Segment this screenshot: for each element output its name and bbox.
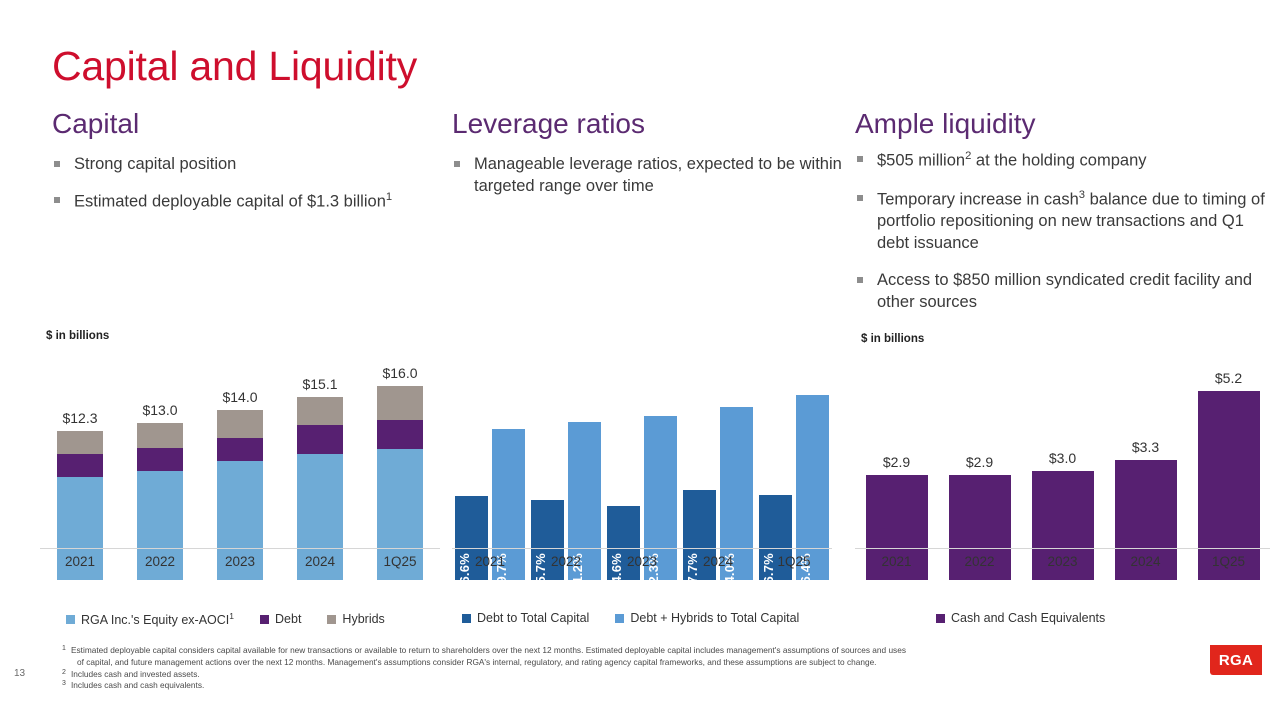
legend-swatch-icon — [260, 615, 269, 624]
bar-segment-hybrid — [377, 386, 423, 420]
x-axis-tick-label: 2023 — [1021, 554, 1104, 569]
legend-swatch-icon — [615, 614, 624, 623]
bullet-square-icon — [857, 277, 863, 283]
x-axis-tick-label: 2024 — [280, 554, 360, 569]
column-heading-liquidity: Ample liquidity — [855, 108, 1275, 140]
column-liquidity: Ample liquidity $505 million2 at the hol… — [855, 108, 1275, 329]
legend-swatch-icon — [462, 614, 471, 623]
x-axis-line — [855, 548, 1270, 549]
legend-swatch-icon — [936, 614, 945, 623]
bullet-text-cont: at the holding company — [971, 152, 1146, 170]
footnote-ref: 1 — [386, 191, 392, 203]
x-axis-tick-label: 1Q25 — [360, 554, 440, 569]
list-item: Manageable leverage ratios, expected to … — [452, 154, 847, 198]
legend-item: Debt + Hybrids to Total Capital — [615, 611, 799, 625]
legend-liquidity: Cash and Cash Equivalents — [936, 611, 1131, 625]
footnote-2: 2 Includes cash and invested assets. — [62, 669, 1162, 681]
chart-units-label: $ in billions — [861, 333, 924, 345]
x-axis-tick-label: 2024 — [1104, 554, 1187, 569]
rga-logo: RGA — [1210, 645, 1262, 675]
bar-segment-debt — [297, 425, 343, 454]
bullet-square-icon — [857, 156, 863, 162]
bullet-text: Access to $850 million syndicated credit… — [877, 271, 1252, 311]
footnote-ref: 1 — [229, 611, 234, 621]
bar-segment-hybrid — [297, 397, 343, 425]
chart-units-label: $ in billions — [46, 330, 109, 342]
bar-segment-hybrid — [217, 410, 263, 438]
bar-value-label: $15.1 — [302, 376, 337, 392]
x-axis-tick-label: 2021 — [855, 554, 938, 569]
x-axis-labels: 20212022202320241Q25 — [40, 554, 440, 569]
bar-segment-debt — [57, 454, 103, 477]
footnote-1: 1 Estimated deployable capital considers… — [62, 645, 1162, 669]
x-axis-tick-label: 1Q25 — [1187, 554, 1270, 569]
footnote-3: 3 Includes cash and cash equivalents. — [62, 680, 1162, 692]
x-axis-labels: 20212022202320241Q25 — [855, 554, 1270, 569]
list-item: $505 million2 at the holding company — [855, 149, 1275, 172]
column-capital: Capital Strong capital position Estimate… — [52, 108, 442, 228]
legend-label: RGA Inc.'s Equity ex-AOCI1 — [81, 611, 234, 627]
x-axis-line — [452, 548, 832, 549]
bullet-square-icon — [54, 197, 60, 203]
bar-segment-debt — [377, 420, 423, 449]
x-axis-tick-label: 2023 — [604, 554, 680, 569]
bar-value-label: $2.9 — [966, 454, 993, 470]
bullet-list-liquidity: $505 million2 at the holding company Tem… — [855, 149, 1275, 314]
bar-slot: 15.7%31.2% — [528, 377, 604, 580]
legend-item: RGA Inc.'s Equity ex-AOCI1 — [66, 611, 234, 627]
legend-swatch-icon — [66, 615, 75, 624]
list-item: Temporary increase in cash3 balance due … — [855, 188, 1275, 255]
bar-value-label: $3.3 — [1132, 439, 1159, 455]
chart-leverage: 16.6%29.7%15.7%31.2%14.6%32.3%17.7%34.0%… — [452, 345, 832, 580]
bullet-text: Manageable leverage ratios, expected to … — [474, 155, 842, 195]
bullet-text: Estimated deployable capital of $1.3 bil… — [74, 193, 386, 211]
bar-slot: 17.7%34.0% — [680, 377, 756, 580]
chart-liquidity: $ in billions $2.9$2.9$3.0$3.3$5.2 20212… — [855, 330, 1270, 580]
bullet-list-capital: Strong capital position Estimated deploy… — [52, 154, 442, 213]
legend-label: Debt to Total Capital — [477, 611, 589, 625]
legend-label: Debt — [275, 612, 301, 626]
legend-label: Cash and Cash Equivalents — [951, 611, 1105, 625]
footnote-text-cont: of capital, and future management action… — [71, 657, 1162, 669]
bar-slot: 16.6%29.7% — [452, 377, 528, 580]
list-item: Estimated deployable capital of $1.3 bil… — [52, 190, 442, 213]
x-axis-line — [40, 548, 440, 549]
bullet-list-leverage: Manageable leverage ratios, expected to … — [452, 154, 847, 198]
legend-item: Cash and Cash Equivalents — [936, 611, 1105, 625]
bar-group: 16.6%29.7%15.7%31.2%14.6%32.3%17.7%34.0%… — [452, 377, 832, 580]
slide: Capital and Liquidity Capital Strong cap… — [0, 0, 1280, 720]
footnote-marker: 3 — [62, 679, 66, 689]
list-item: Strong capital position — [52, 154, 442, 176]
bar-segment-debt — [217, 438, 263, 461]
legend-item: Debt to Total Capital — [462, 611, 589, 625]
logo-text: RGA — [1219, 652, 1253, 669]
x-axis-tick-label: 2022 — [528, 554, 604, 569]
x-axis-tick-label: 2024 — [680, 554, 756, 569]
bar-value-label: $5.2 — [1215, 370, 1242, 386]
legend-label: Debt + Hybrids to Total Capital — [630, 611, 799, 625]
column-heading-capital: Capital — [52, 108, 442, 140]
bullet-text: Strong capital position — [74, 155, 236, 173]
x-axis-tick-label: 2021 — [40, 554, 120, 569]
x-axis-labels: 20212022202320241Q25 — [452, 554, 832, 569]
bar-segment-debt — [137, 448, 183, 471]
bar-value-label: $12.3 — [62, 410, 97, 426]
page-number: 13 — [14, 668, 25, 679]
footnote-text: Includes cash and invested assets. — [71, 669, 200, 679]
bar-value-label: $2.9 — [883, 454, 910, 470]
column-leverage: Leverage ratios Manageable leverage rati… — [452, 108, 847, 212]
footnote-marker: 2 — [62, 668, 66, 678]
legend-capital: RGA Inc.'s Equity ex-AOCI1 Debt Hybrids — [66, 611, 411, 627]
bullet-text: Temporary increase in cash — [877, 190, 1079, 208]
legend-swatch-icon — [327, 615, 336, 624]
footnote-marker: 1 — [62, 644, 66, 654]
bullet-square-icon — [54, 161, 60, 167]
column-heading-leverage: Leverage ratios — [452, 108, 847, 140]
bar-segment-hybrid — [137, 423, 183, 448]
bar-cash-and-cash-equivalents[interactable] — [1198, 391, 1260, 580]
stacked-bar[interactable] — [297, 397, 343, 580]
page-title: Capital and Liquidity — [52, 44, 417, 89]
legend-leverage: Debt to Total Capital Debt + Hybrids to … — [462, 611, 825, 625]
bar-value-label: $14.0 — [222, 389, 257, 405]
x-axis-tick-label: 2022 — [120, 554, 200, 569]
legend-label: Hybrids — [342, 612, 384, 626]
x-axis-tick-label: 2022 — [938, 554, 1021, 569]
legend-item: Debt — [260, 612, 301, 626]
bullet-square-icon — [857, 195, 863, 201]
x-axis-tick-label: 1Q25 — [756, 554, 832, 569]
bullet-text: $505 million — [877, 152, 965, 170]
bar-slot: 16.7%36.4% — [756, 377, 832, 580]
bar-slot: 14.6%32.3% — [604, 377, 680, 580]
bar-segment-hybrid — [57, 431, 103, 454]
stacked-bar[interactable] — [377, 386, 423, 580]
footnote-text: Estimated deployable capital considers c… — [71, 645, 906, 655]
bar-value-label: $16.0 — [382, 365, 417, 381]
bar-value-label: $13.0 — [142, 402, 177, 418]
bar-debt-hybrids-to-total-capital[interactable]: 36.4% — [796, 395, 829, 580]
bullet-square-icon — [454, 161, 460, 167]
footnote-text: Includes cash and cash equivalents. — [71, 680, 204, 690]
footnotes: 1 Estimated deployable capital considers… — [62, 645, 1162, 692]
list-item: Access to $850 million syndicated credit… — [855, 270, 1275, 314]
x-axis-tick-label: 2023 — [200, 554, 280, 569]
bar-value-label: $3.0 — [1049, 450, 1076, 466]
legend-item: Hybrids — [327, 612, 384, 626]
chart-capital: $ in billions $12.3$13.0$14.0$15.1$16.0 … — [40, 330, 440, 580]
x-axis-tick-label: 2021 — [452, 554, 528, 569]
